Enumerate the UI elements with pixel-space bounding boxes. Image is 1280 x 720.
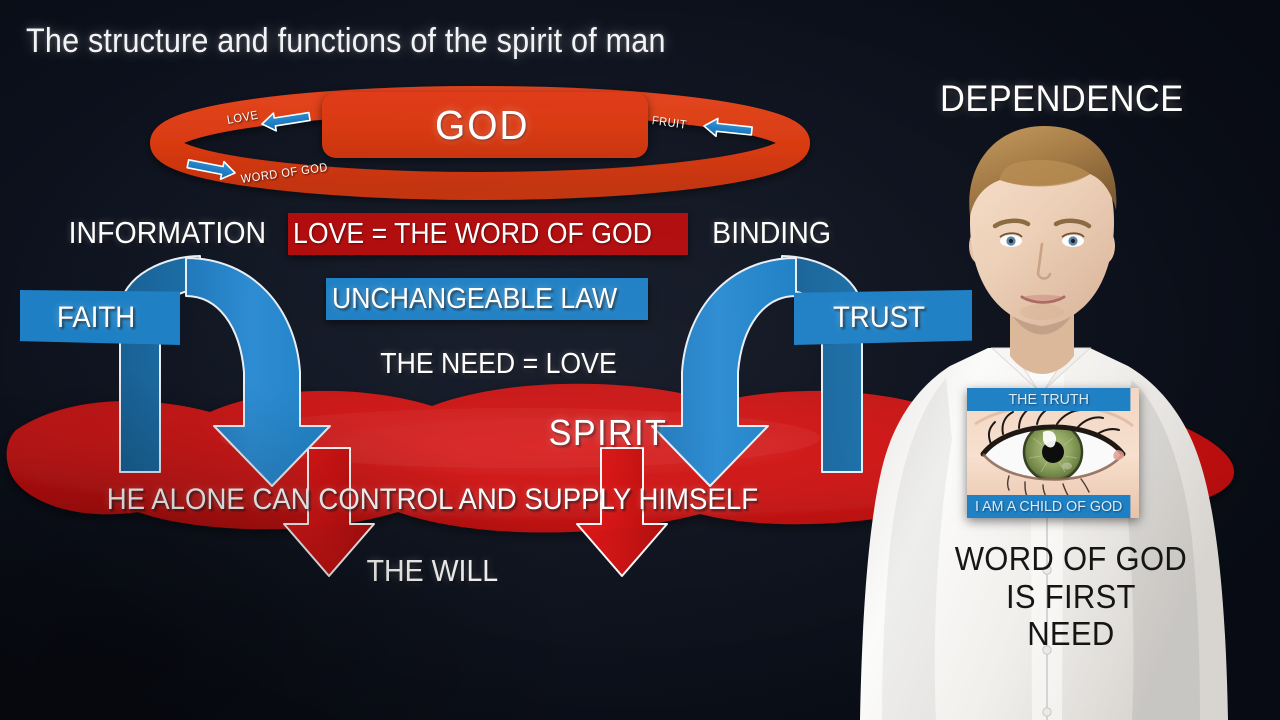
arrow-right-icon-word-of-god — [186, 155, 237, 182]
he-alone-statement: HE ALONE CAN CONTROL AND SUPPLY HIMSELF — [0, 483, 865, 517]
information-label: INFORMATION — [69, 215, 267, 251]
arch-left-front-arrow — [186, 258, 330, 486]
unchangeable-law-box: UNCHANGEABLE LAW — [326, 278, 648, 320]
i-am-a-child-of-god-bar: I AM A CHILD OF GOD — [967, 495, 1130, 518]
word-of-god-is-first-need-block: WORD OF GOD IS FIRST NEED — [944, 540, 1214, 653]
god-box: GOD — [322, 92, 648, 158]
binding-label: BINDING — [712, 215, 831, 251]
faith-label: FAITH — [57, 301, 135, 335]
wog-line-2: IS FIRST — [944, 578, 1198, 616]
dependence-label: DEPENDENCE — [940, 78, 1184, 120]
the-will-label: THE WILL — [0, 553, 865, 589]
slide-canvas: The structure and functions of the spiri… — [0, 0, 1280, 720]
truth-eye-card: THE TRUTH I AM A CHILD OF GOD — [967, 388, 1139, 518]
love-equals-word-of-god-text: LOVE = THE WORD OF GOD — [293, 218, 652, 251]
wog-line-3: NEED — [944, 615, 1198, 653]
unchangeable-law-text: UNCHANGEABLE LAW — [332, 283, 617, 316]
arrow-left-icon-fruit — [703, 117, 753, 140]
wog-line-1: WORD OF GOD — [944, 540, 1198, 578]
the-need-label: THE NEED = LOVE — [380, 348, 616, 381]
arrow-left-icon-love — [261, 108, 311, 133]
the-truth-bar: THE TRUTH — [967, 388, 1130, 411]
faith-plate: FAITH — [20, 290, 180, 345]
page-title: The structure and functions of the spiri… — [26, 22, 666, 61]
love-equals-word-of-god-box: LOVE = THE WORD OF GOD — [288, 213, 688, 255]
god-label: GOD — [435, 102, 529, 149]
arch-right-front-arrow — [652, 258, 796, 486]
